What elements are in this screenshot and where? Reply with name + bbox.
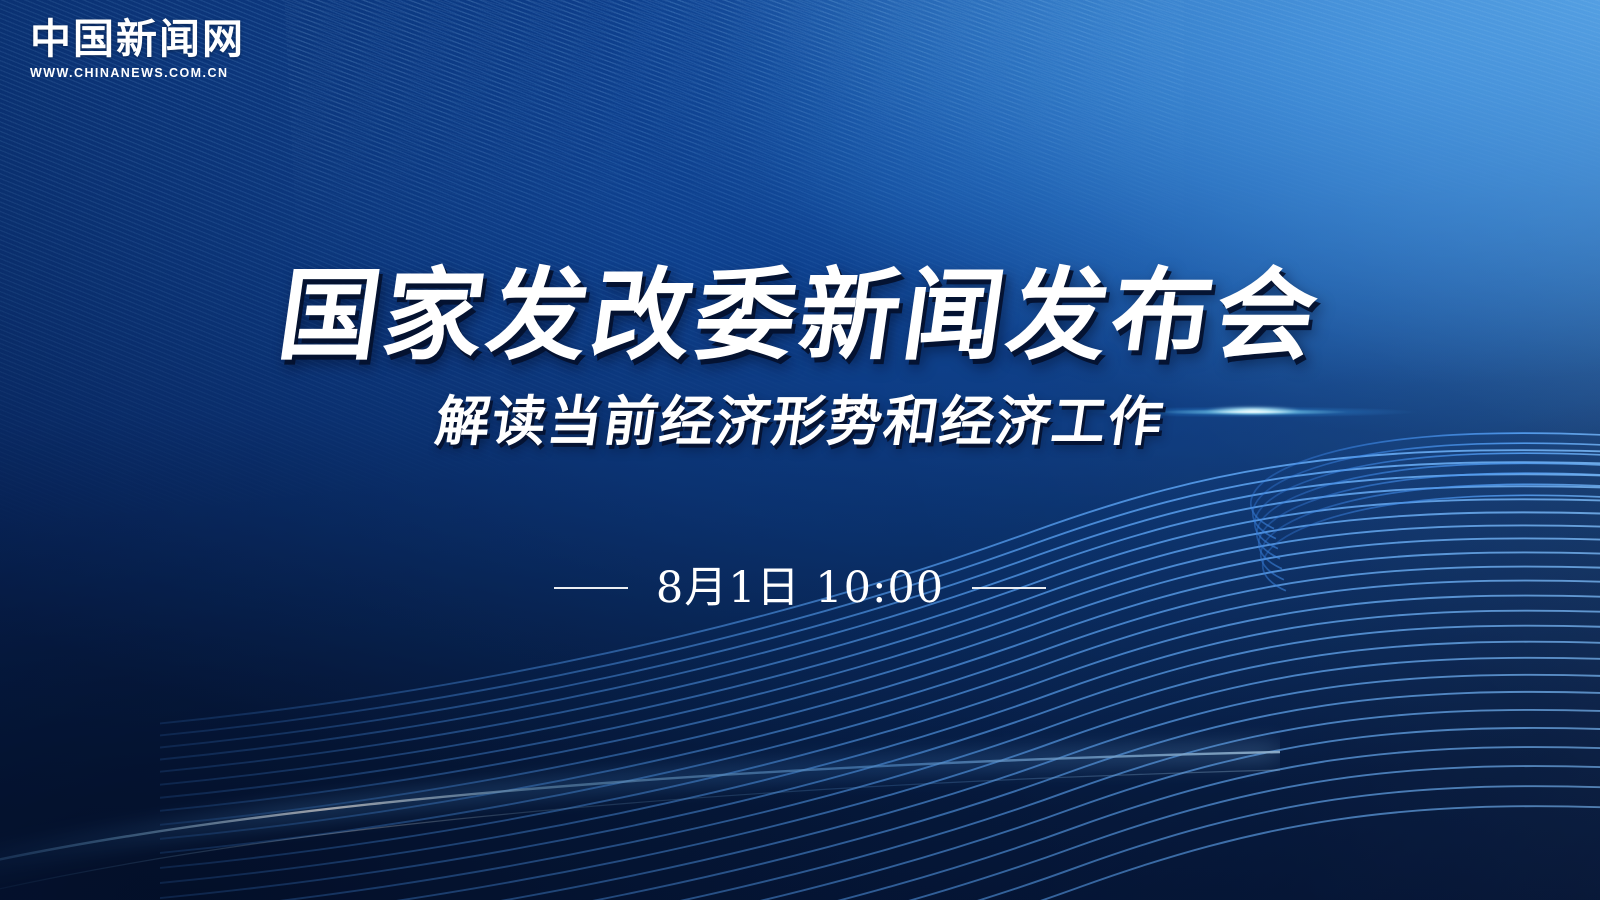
schedule-datetime: 8月1日 10:00 (656, 567, 944, 610)
glow-arc-decoration (0, 594, 1280, 900)
news-conference-poster: 中国新闻网 WWW.CHINANEWS.COM.CN 国家发改委新闻发布会 解读… (0, 0, 1600, 900)
schedule-row: 8月1日 10:00 (0, 567, 1600, 610)
page-title: 国家发改委新闻发布会 (0, 258, 1600, 374)
divider-line-left (554, 587, 628, 589)
page-subtitle: 解读当前经济形势和经济工作 (0, 390, 1600, 455)
logo-website-url: WWW.CHINANEWS.COM.CN (30, 66, 230, 80)
chinanews-logo[interactable]: 中国新闻网 WWW.CHINANEWS.COM.CN (30, 18, 230, 80)
logo-brand-name: 中国新闻网 (30, 18, 230, 61)
poster-content: 国家发改委新闻发布会 解读当前经济形势和经济工作 8月1日 10:00 (0, 258, 1600, 610)
diagonal-hatch-top-band (280, 0, 1600, 270)
divider-line-right (972, 587, 1046, 589)
